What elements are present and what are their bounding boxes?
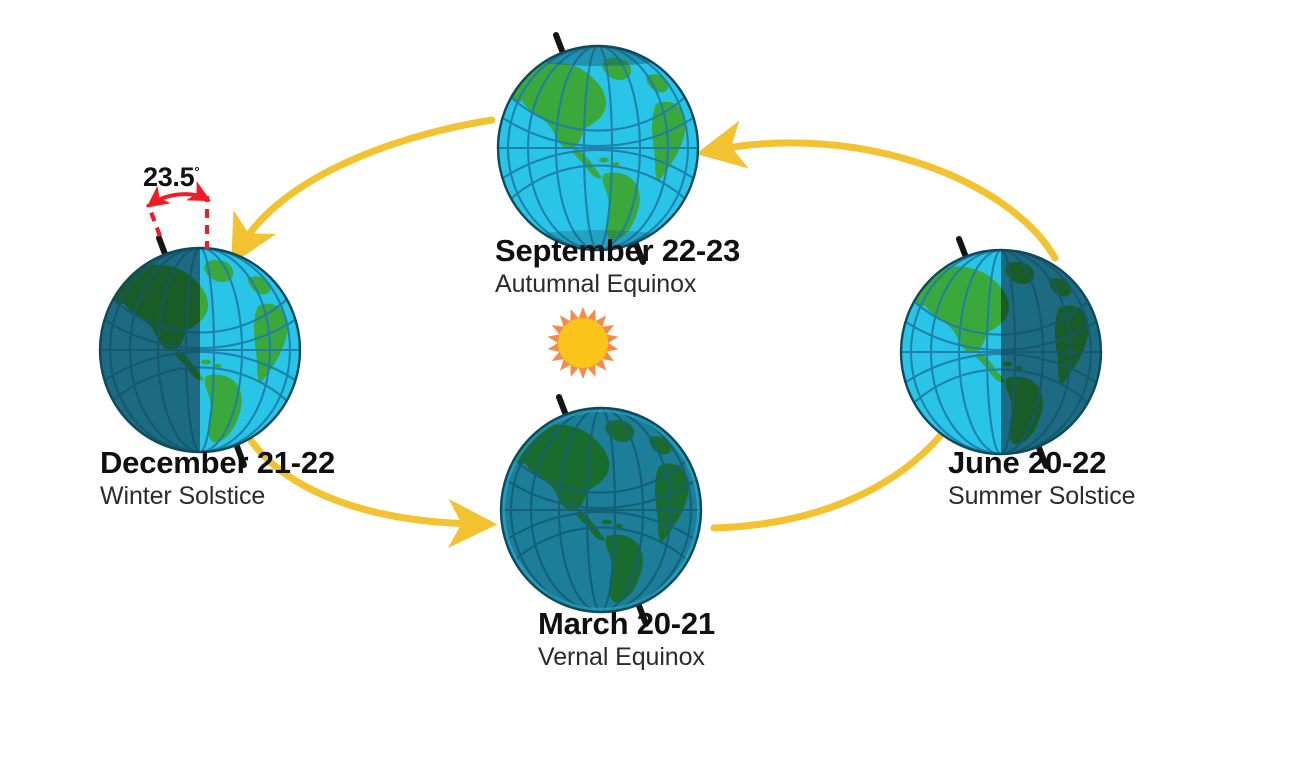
march-date: March 20-21 (538, 608, 798, 641)
june-event: Summer Solstice (948, 483, 1198, 510)
september-event: Autumnal Equinox (495, 271, 795, 298)
axis-tilt-value: 23.5 (143, 162, 194, 192)
axis-tilt-label: 23.5° (143, 162, 199, 193)
label-march-equinox: March 20-21 Vernal Equinox (538, 608, 798, 670)
label-june-solstice: June 20-22 Summer Solstice (948, 447, 1198, 509)
march-event: Vernal Equinox (538, 644, 798, 671)
axis-tilt-marker (148, 194, 207, 250)
june-date: June 20-22 (948, 447, 1198, 480)
globe-june (890, 239, 1113, 470)
sun-icon (547, 307, 620, 379)
seasons-diagram: 23.5° December 21-22 Winter Solstice Sep… (0, 0, 1296, 758)
degree-symbol: ° (194, 164, 199, 179)
label-september-equinox: September 22-23 Autumnal Equinox (495, 235, 795, 297)
december-event: Winter Solstice (100, 483, 390, 510)
tilt-angle-arc (150, 194, 207, 205)
globe-december (90, 238, 320, 470)
september-date: September 22-23 (495, 235, 795, 268)
label-december-solstice: December 21-22 Winter Solstice (100, 447, 390, 509)
orbit-arc-september-to-december (241, 120, 492, 247)
globe-march (493, 397, 713, 624)
tilted-axis-extension (148, 204, 160, 236)
december-date: December 21-22 (100, 447, 390, 480)
